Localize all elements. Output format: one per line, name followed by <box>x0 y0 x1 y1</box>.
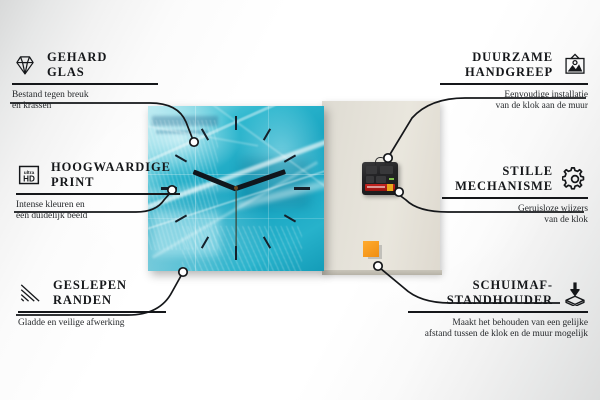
mechanism-detail <box>366 176 374 183</box>
feature-header: GESLEPEN RANDEN <box>18 278 170 307</box>
foam-spacer <box>363 241 379 257</box>
battery-terminal <box>387 184 393 191</box>
clock-tick-3 <box>294 187 310 190</box>
feature-title: DUURZAME HANDGREEP <box>436 50 553 79</box>
foam-spacer-icon <box>562 280 588 306</box>
clock-tick-1 <box>263 128 271 140</box>
mechanism-detail <box>376 176 386 183</box>
feature-divider <box>16 193 180 195</box>
mechanism-indicator <box>389 178 394 180</box>
clock-tick-6 <box>235 246 237 260</box>
feature-hoogwaardige-print[interactable]: ultra HD HOOGWAARDIGE PRINT Intense kleu… <box>16 160 184 223</box>
clock-tick-12 <box>235 116 237 130</box>
feature-geslepen-randen[interactable]: GESLEPEN RANDEN Gladde en veilige afwerk… <box>18 278 170 329</box>
bevelled-edges-icon <box>18 280 44 306</box>
clock-mechanism <box>362 162 398 195</box>
gear-icon <box>562 166 588 192</box>
clock-second-hand <box>235 189 236 247</box>
feature-duurzame-handgreep[interactable]: DUURZAME HANDGREEP Eenvoudige installati… <box>436 50 588 113</box>
svg-text:HD: HD <box>23 174 35 183</box>
feature-divider <box>408 311 588 313</box>
face-artwork-feather <box>182 226 302 271</box>
feature-title: GESLEPEN RANDEN <box>53 278 127 307</box>
feature-divider <box>442 197 588 199</box>
feature-gehard-glas[interactable]: GEHARD GLAS Bestand tegen breuk en krass… <box>12 50 162 113</box>
mechanism-detail <box>366 166 377 174</box>
picture-hanger-icon <box>562 52 588 78</box>
diamond-icon <box>12 52 38 78</box>
mechanism-hanger-loop <box>375 157 386 165</box>
feature-divider <box>18 311 166 313</box>
ultra-hd-icon: ultra HD <box>16 162 42 188</box>
feature-divider <box>12 83 158 85</box>
feature-header: STILLE MECHANISME <box>438 164 588 193</box>
feature-header: ultra HD HOOGWAARDIGE PRINT <box>16 160 184 189</box>
feature-divider <box>440 83 588 85</box>
infographic-stage: GEHARD GLAS Bestand tegen breuk en krass… <box>0 0 600 400</box>
clock-back-panel-edge <box>322 270 442 275</box>
feature-title: HOOGWAARDIGE PRINT <box>51 160 171 189</box>
feature-title: STILLE MECHANISME <box>438 164 553 193</box>
feature-header: GEHARD GLAS <box>12 50 162 79</box>
glass-seam <box>195 106 196 271</box>
mechanism-detail <box>380 166 393 174</box>
clock-hands-hub <box>234 186 238 190</box>
feature-schuimafstandhouder[interactable]: SCHUIMAF- STANDHOUDER Maakt het behouden… <box>404 278 588 341</box>
feature-stille-mechanisme[interactable]: STILLE MECHANISME Geruisloze wijzers van… <box>438 164 588 227</box>
feature-title: GEHARD GLAS <box>47 50 107 79</box>
feature-header: DUURZAME HANDGREEP <box>436 50 588 79</box>
feature-header: SCHUIMAF- STANDHOUDER <box>404 278 588 307</box>
feature-title: SCHUIMAF- STANDHOUDER <box>404 278 553 307</box>
battery-label <box>367 186 385 188</box>
